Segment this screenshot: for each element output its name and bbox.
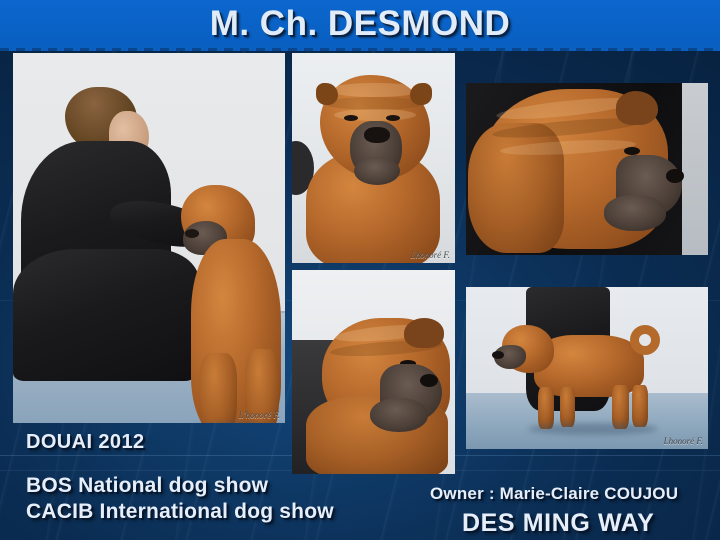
photo-full-stack[interactable]: Lhonoré F. [466,287,708,449]
caption-kennel-name: DES MING WAY [462,509,654,538]
dog-eye [624,147,640,155]
dog-foreleg [560,387,575,427]
photo-watermark: Lhonoré F. [411,250,450,260]
dog-wrinkle [328,83,422,97]
dog-jowl [354,157,400,185]
dog-foreleg [538,387,554,429]
banner-dashed-edge [0,48,720,51]
page-title: M. Ch. DESMOND [0,2,720,46]
photo-head-three-quarter[interactable] [292,270,455,474]
dog-ear-left [316,83,338,105]
dog-nose [185,229,199,238]
photo-head-front[interactable]: Lhonoré F. [292,53,455,263]
photo-watermark: L'honoré F. [239,410,280,420]
caption-owner: Owner : Marie-Claire COUJOU [430,484,678,504]
dog-foreleg [199,353,237,423]
photo-scene [292,270,455,474]
dog-eye-right [386,115,400,121]
photo-head-profile[interactable] [466,83,708,255]
dog-jowl [370,398,428,432]
photo-scene [466,287,708,449]
dog-nose [666,169,684,183]
caption-award-line-1: BOS National dog show [26,474,268,498]
photo-scene [13,53,285,423]
title-banner: M. Ch. DESMOND [0,0,720,51]
handler-skirt [13,249,199,381]
caption-award-line-2: CACIB International dog show [26,500,334,524]
dog-ear-right [410,83,432,105]
photo-scene [292,53,455,263]
dog-eye-left [344,115,358,121]
dog-nose [364,127,390,143]
dog-nose [420,374,438,387]
photo-scene [466,83,708,255]
photo-handler-and-dog[interactable]: L'honoré F. [13,53,285,423]
dog-hindleg [632,385,648,427]
dog-jowl [604,195,666,231]
dog-ear [404,318,444,348]
dog-shadow [528,423,658,435]
dog-ear [616,91,658,125]
slide-canvas: M. Ch. DESMOND L'honoré F. [0,0,720,540]
caption-event: DOUAI 2012 [26,431,145,454]
dog-nose [492,351,504,359]
backdrop-edge [682,83,708,255]
photo-watermark: Lhonoré F. [664,436,703,446]
dog-tail [630,325,660,355]
